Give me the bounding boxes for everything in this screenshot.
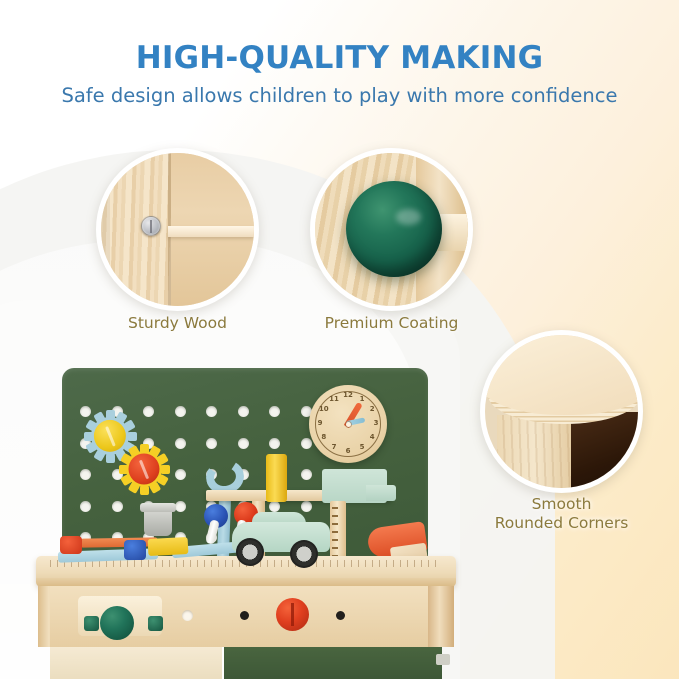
clock-numeral: 8	[319, 433, 329, 441]
bench-leg-right	[428, 586, 454, 647]
clock-numeral: 12	[343, 391, 353, 399]
feature-image-premium-coating	[310, 148, 473, 311]
yellow-block	[148, 537, 189, 556]
gear-yellow	[119, 444, 169, 494]
clock-numeral: 7	[329, 443, 339, 451]
caption-line-1: Smooth	[532, 495, 592, 513]
infographic-canvas: HIGH-QUALITY MAKING Safe design allows c…	[0, 0, 679, 679]
ruler-tick	[332, 523, 338, 525]
nut-red-small	[60, 536, 82, 554]
hole-white	[182, 610, 193, 621]
pegboard-hole	[175, 438, 186, 449]
storage-drawer	[224, 647, 442, 679]
pegboard-hole	[206, 438, 217, 449]
vise-nut-left	[84, 616, 99, 631]
plywood-grain	[497, 415, 570, 493]
nut-blue-small	[124, 540, 146, 560]
lower-shelf	[50, 647, 222, 679]
pegboard-hole	[301, 501, 312, 512]
clock-numeral: 6	[343, 447, 353, 455]
gear-tooth	[128, 432, 137, 441]
pegboard-hole	[301, 438, 312, 449]
drawer-pull	[436, 654, 450, 665]
feature-image-sturdy-wood	[96, 148, 259, 311]
wood-shelf-edge	[168, 226, 254, 237]
pegboard-hole	[112, 501, 123, 512]
pegboard-hole	[80, 406, 91, 417]
page-subtitle: Safe design allows children to play with…	[0, 84, 679, 107]
pegboard-hole	[301, 469, 312, 480]
clock-numeral: 10	[319, 405, 329, 413]
red-knob	[276, 598, 309, 631]
clock-numeral: 2	[367, 405, 377, 413]
pegboard-hole	[269, 406, 280, 417]
clock-center-cap	[346, 422, 351, 427]
vise-green-knob	[100, 606, 134, 640]
clock-numeral: 4	[367, 433, 377, 441]
ruler-tick	[332, 515, 338, 517]
clock-numeral: 11	[329, 395, 339, 403]
pegboard-hole	[175, 406, 186, 417]
pegboard-hole	[206, 406, 217, 417]
clock-numeral: 1	[357, 395, 367, 403]
pegboard-hole	[143, 406, 154, 417]
ruler-tick	[332, 507, 338, 509]
feature-image-rounded-corners	[480, 330, 643, 493]
pegboard-hole	[238, 438, 249, 449]
pegboard-hole	[175, 501, 186, 512]
gear-tooth	[106, 454, 115, 463]
feature-caption-sturdy-wood: Sturdy Wood	[96, 314, 259, 333]
ruler-tick	[332, 547, 338, 549]
silver-tool-cup	[144, 508, 172, 536]
clock-numeral: 9	[315, 419, 325, 427]
toy-clock: 121234567891011	[309, 385, 387, 463]
caption-line-2: Rounded Corners	[495, 514, 629, 532]
hole-dark-2	[336, 611, 345, 620]
ruler-tick	[332, 539, 338, 541]
page-title: HIGH-QUALITY MAKING	[0, 40, 679, 76]
mint-tool-tail	[366, 485, 396, 501]
shadow-region	[571, 412, 643, 494]
hole-dark-1	[240, 611, 249, 620]
product-workbench: 121234567891011	[36, 368, 456, 679]
plywood-top-surface	[480, 330, 643, 415]
pegboard-hole	[80, 501, 91, 512]
pegboard-hole	[238, 406, 249, 417]
feature-caption-premium-coating: Premium Coating	[300, 314, 483, 333]
pegboard-hole	[269, 438, 280, 449]
pegboard-hole	[80, 469, 91, 480]
pegboard-hole	[175, 469, 186, 480]
vise-nut-right	[148, 616, 163, 631]
orange-strip	[80, 537, 158, 547]
toy-car-wheel-rear	[290, 540, 318, 568]
clock-numeral: 5	[357, 443, 367, 451]
ruler-tick	[332, 531, 338, 533]
green-ball-knob	[346, 181, 442, 277]
clock-numeral: 3	[371, 419, 381, 427]
pegboard-hole	[269, 501, 280, 512]
feature-caption-rounded-corners: Smooth Rounded Corners	[470, 495, 653, 533]
screw-red	[129, 454, 160, 485]
toy-car-wheel-front	[236, 538, 264, 566]
yellow-cylinder	[266, 454, 287, 502]
